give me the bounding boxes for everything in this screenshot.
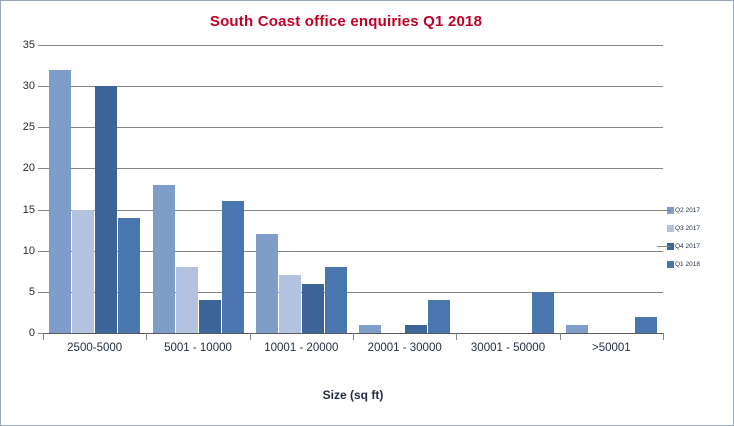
x-tick-mark	[560, 333, 561, 340]
bar	[95, 86, 117, 333]
x-axis-title: Size (sq ft)	[43, 388, 663, 402]
y-tick-label: 15	[23, 204, 35, 216]
x-axis: 2500-50005001 - 1000010001 - 2000020001 …	[43, 333, 663, 363]
x-tick-mark	[250, 333, 251, 340]
legend-label: Q4 2017	[675, 243, 700, 250]
x-tick-label: 30001 - 50000	[471, 342, 545, 354]
legend-item[interactable]: Q2 2017	[667, 201, 731, 219]
bars-layer	[43, 45, 663, 333]
legend-rule	[657, 210, 671, 211]
legend-label: Q2 2017	[675, 207, 700, 214]
legend-label: Q3 2017	[675, 225, 700, 232]
bar	[256, 234, 278, 333]
y-tick-label: 20	[23, 162, 35, 174]
bar	[118, 218, 140, 333]
chart-container: South Coast office enquiries Q1 2018 051…	[0, 0, 734, 426]
legend-item[interactable]: Q1 2018	[667, 255, 731, 273]
y-tick-label: 35	[23, 39, 35, 51]
bar	[176, 267, 198, 333]
plot-area	[43, 45, 663, 333]
bar	[222, 201, 244, 333]
bar	[635, 317, 657, 333]
bar	[428, 300, 450, 333]
y-axis: 05101520253035	[1, 45, 43, 333]
y-tick-label: 30	[23, 80, 35, 92]
legend-item[interactable]: Q4 2017	[667, 237, 731, 255]
y-tick-label: 10	[23, 245, 35, 257]
chart-legend: Q2 2017Q3 2017Q4 2017Q1 2018	[667, 201, 731, 273]
legend-label: Q1 2018	[675, 261, 700, 268]
bar	[153, 185, 175, 333]
bar	[566, 325, 588, 333]
x-tick-mark	[353, 333, 354, 340]
x-tick-mark	[146, 333, 147, 340]
x-tick-mark	[43, 333, 44, 340]
chart-title: South Coast office enquiries Q1 2018	[1, 13, 691, 30]
x-tick-label: 10001 - 20000	[264, 342, 338, 354]
bar	[72, 210, 94, 333]
bar	[532, 292, 554, 333]
bar	[199, 300, 221, 333]
y-tick-label: 25	[23, 121, 35, 133]
bar	[279, 275, 301, 333]
bar	[302, 284, 324, 333]
x-tick-label: 2500-5000	[67, 342, 122, 354]
legend-swatch	[667, 261, 674, 268]
legend-item[interactable]: Q3 2017	[667, 219, 731, 237]
legend-swatch	[667, 225, 674, 232]
x-tick-label: 5001 - 10000	[164, 342, 232, 354]
bar	[359, 325, 381, 333]
bar	[49, 70, 71, 333]
x-tick-mark	[663, 333, 664, 340]
x-tick-label: >50001	[592, 342, 631, 354]
x-tick-label: 20001 - 30000	[368, 342, 442, 354]
y-tick-label: 5	[29, 286, 35, 298]
x-tick-mark	[456, 333, 457, 340]
bar	[325, 267, 347, 333]
legend-rule	[657, 246, 671, 247]
bar	[405, 325, 427, 333]
y-tick-label: 0	[29, 327, 35, 339]
